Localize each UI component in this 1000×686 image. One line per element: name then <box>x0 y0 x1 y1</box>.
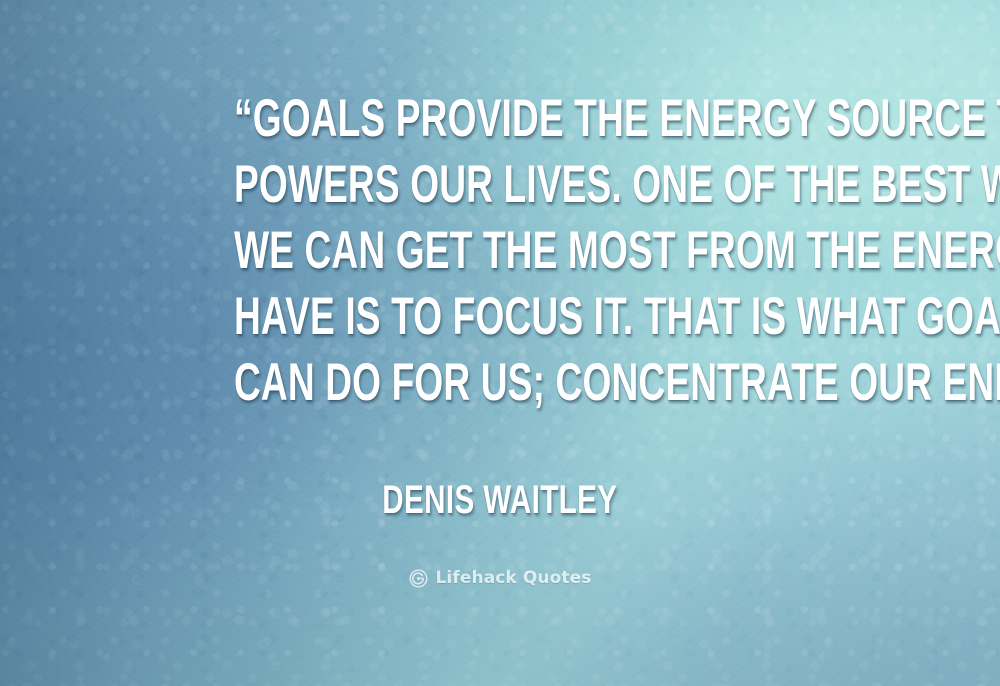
quote-line: CAN DO FOR US; CONCENTRATE OUR ENERGY.” <box>234 350 766 416</box>
quote-text: “GOALS PROVIDE THE ENERGY SOURCE THAT PO… <box>120 86 880 416</box>
author-name: DENIS WAITLEY <box>382 480 617 520</box>
quote-line: HAVE IS TO FOCUS IT. THAT IS WHAT GOALS <box>234 284 766 350</box>
content-stack: “GOALS PROVIDE THE ENERGY SOURCE THAT PO… <box>0 0 1000 686</box>
quote-line: “GOALS PROVIDE THE ENERGY SOURCE THAT <box>234 86 766 152</box>
watermark: Lifehack Quotes <box>409 569 592 588</box>
lifehack-circle-logo-icon <box>409 569 428 588</box>
quote-line: POWERS OUR LIVES. ONE OF THE BEST WAYS <box>234 152 766 218</box>
quote-line: WE CAN GET THE MOST FROM THE ENERGY WE <box>234 218 766 284</box>
watermark-label: Lifehack Quotes <box>436 569 592 588</box>
quote-image: “GOALS PROVIDE THE ENERGY SOURCE THAT PO… <box>0 0 1000 686</box>
